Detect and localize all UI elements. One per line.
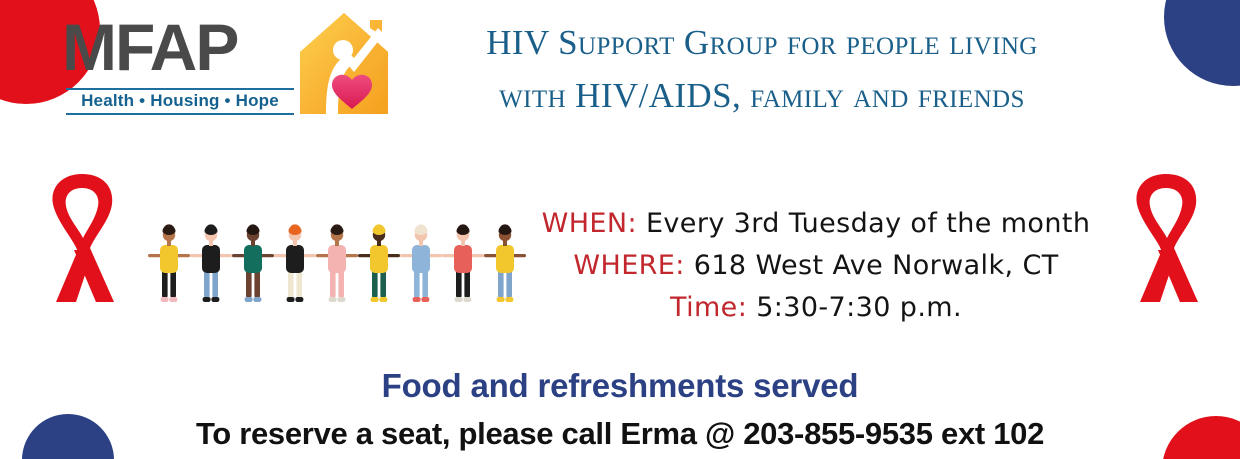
detail-label-when: WHEN: [542, 208, 637, 239]
detail-value-where: 618 West Ave Norwalk, CT [694, 250, 1059, 281]
person-figure [316, 224, 358, 302]
headline-line-2: with HIV/AIDS, family and friends [404, 69, 1120, 122]
detail-label-where: WHERE: [573, 250, 684, 281]
red-awareness-ribbon-icon-right [1118, 168, 1214, 313]
person-figure [400, 224, 442, 302]
headline-line-1: HIV Support Group for people living [404, 16, 1120, 69]
flyer-canvas: MFAP Health • Housing • Hope [0, 0, 1240, 459]
reservation-note: To reserve a seat, please call Erma @ 20… [0, 416, 1240, 452]
detail-row-when: WHEN: Every 3rd Tuesday of the month [520, 203, 1112, 245]
logo-tagline: Health • Housing • Hope [66, 91, 294, 111]
people-holding-hands-illustration [148, 218, 526, 310]
detail-value-when: Every 3rd Tuesday of the month [646, 208, 1090, 239]
detail-row-time: Time: 5:30-7:30 p.m. [520, 287, 1112, 329]
detail-value-time: 5:30-7:30 p.m. [756, 292, 962, 323]
house-with-person-and-heart-icon [296, 10, 392, 127]
food-note: Food and refreshments served [0, 367, 1240, 405]
person-figure [232, 224, 274, 302]
logo-wordmark: MFAP [62, 12, 237, 82]
person-figure [358, 224, 400, 302]
person-figure [148, 224, 190, 302]
detail-label-time: Time: [670, 292, 747, 323]
logo-tagline-rule: Health • Housing • Hope [66, 88, 294, 115]
detail-row-where: WHERE: 618 West Ave Norwalk, CT [520, 245, 1112, 287]
page-title: HIV Support Group for people living with… [404, 16, 1120, 122]
mfap-logo: MFAP Health • Housing • Hope [62, 8, 392, 120]
red-awareness-ribbon-icon-left [34, 168, 130, 313]
event-details: WHEN: Every 3rd Tuesday of the month WHE… [520, 203, 1112, 329]
navy-circle-decoration-top-right [1164, 0, 1240, 86]
person-figure [442, 224, 484, 302]
person-figure [190, 224, 232, 302]
person-figure [274, 224, 316, 302]
